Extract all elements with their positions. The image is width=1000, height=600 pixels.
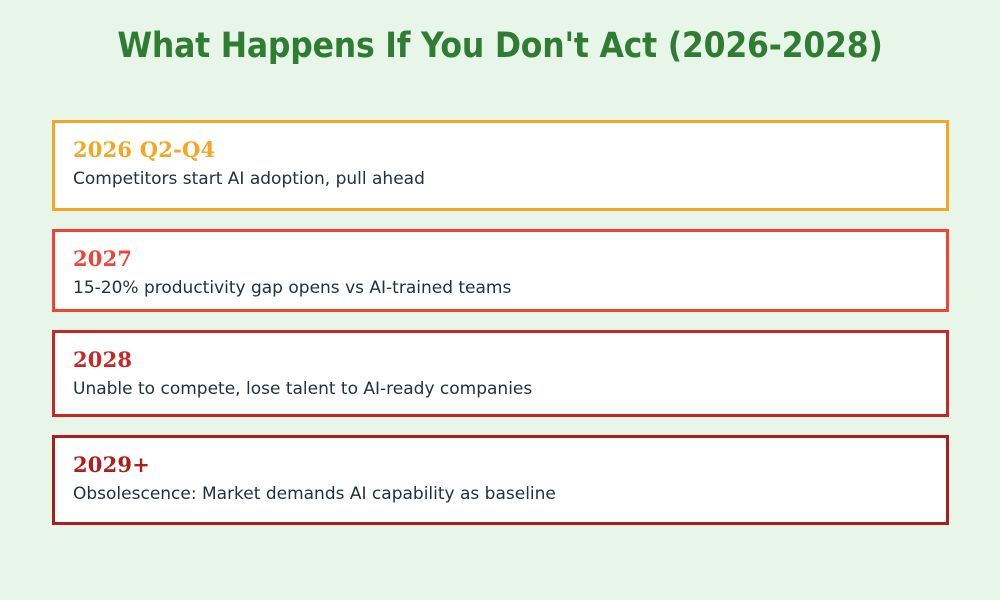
timeline-card-year: 2028 — [73, 347, 928, 372]
timeline-card-description: Unable to compete, lose talent to AI-rea… — [73, 378, 928, 400]
timeline-card-list: 2026 Q2-Q4 Competitors start AI adoption… — [52, 120, 949, 525]
page-title: What Happens If You Don't Act (2026-2028… — [0, 26, 1000, 66]
timeline-card-year: 2027 — [73, 246, 928, 271]
slide-root: What Happens If You Don't Act (2026-2028… — [0, 0, 1000, 600]
timeline-card-description: Obsolescence: Market demands AI capabili… — [73, 483, 928, 505]
timeline-card: 2028 Unable to compete, lose talent to A… — [52, 330, 949, 417]
timeline-card-year: 2029+ — [73, 452, 928, 477]
timeline-card: 2026 Q2-Q4 Competitors start AI adoption… — [52, 120, 949, 211]
timeline-card-year: 2026 Q2-Q4 — [73, 137, 928, 162]
timeline-card-description: 15-20% productivity gap opens vs AI-trai… — [73, 277, 928, 299]
timeline-card-description: Competitors start AI adoption, pull ahea… — [73, 168, 928, 190]
timeline-card: 2027 15-20% productivity gap opens vs AI… — [52, 229, 949, 312]
timeline-card: 2029+ Obsolescence: Market demands AI ca… — [52, 435, 949, 525]
